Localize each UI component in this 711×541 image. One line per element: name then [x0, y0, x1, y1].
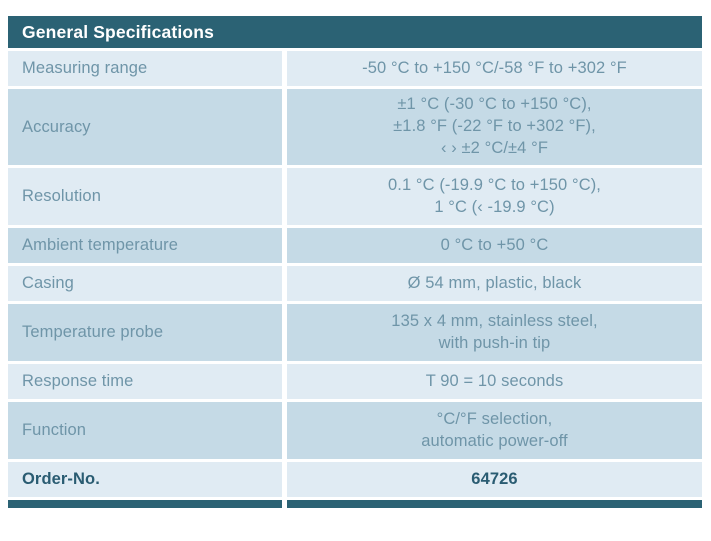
table-row: Measuring range-50 °C to +150 °C/-58 °F … — [8, 51, 702, 86]
spec-label: Resolution — [8, 168, 282, 225]
spec-value-line: ±1.8 °F (-22 °F to +302 °F), — [393, 116, 596, 138]
spec-value-text: °C/°F selection,automatic power-off — [421, 409, 568, 453]
table-row: Response timeT 90 = 10 seconds — [8, 364, 702, 399]
spec-value: ±1 °C (-30 °C to +150 °C),±1.8 °F (-22 °… — [287, 89, 702, 165]
spec-label: Measuring range — [8, 51, 282, 86]
spec-label: Function — [8, 402, 282, 459]
spec-label: Ambient temperature — [8, 228, 282, 263]
table-row: Resolution0.1 °C (-19.9 °C to +150 °C),1… — [8, 168, 702, 225]
spec-value-text: -50 °C to +150 °C/-58 °F to +302 °F — [362, 58, 627, 80]
spec-label: Accuracy — [8, 89, 282, 165]
spec-value-text: 0.1 °C (-19.9 °C to +150 °C),1 °C (‹ -19… — [388, 175, 601, 219]
spec-value-line: 0 °C to +50 °C — [441, 235, 549, 257]
spec-value-line: T 90 = 10 seconds — [426, 371, 564, 393]
spec-value-text: Ø 54 mm, plastic, black — [408, 273, 582, 295]
spec-value-line: 135 x 4 mm, stainless steel, — [391, 311, 597, 333]
spec-value: 64726 — [287, 462, 702, 497]
spec-value-text: 64726 — [471, 469, 517, 491]
spec-label: Casing — [8, 266, 282, 301]
spec-value-line: -50 °C to +150 °C/-58 °F to +302 °F — [362, 58, 627, 80]
spec-label: Temperature probe — [8, 304, 282, 361]
footer-bar-right — [287, 500, 702, 508]
table-row: Function°C/°F selection,automatic power-… — [8, 402, 702, 459]
spec-value-line: with push-in tip — [391, 333, 597, 355]
table-header-title: General Specifications — [22, 22, 214, 43]
spec-value-text: 135 x 4 mm, stainless steel,with push-in… — [391, 311, 597, 355]
spec-value: 0 °C to +50 °C — [287, 228, 702, 263]
specifications-table: General Specifications Measuring range-5… — [8, 16, 702, 508]
spec-value: T 90 = 10 seconds — [287, 364, 702, 399]
spec-value: 135 x 4 mm, stainless steel,with push-in… — [287, 304, 702, 361]
spec-value: -50 °C to +150 °C/-58 °F to +302 °F — [287, 51, 702, 86]
spec-value: Ø 54 mm, plastic, black — [287, 266, 702, 301]
table-header: General Specifications — [8, 16, 702, 48]
spec-label: Order-No. — [8, 462, 282, 497]
spec-value-line: ‹ › ±2 °C/±4 °F — [393, 138, 596, 160]
spec-value-line: 1 °C (‹ -19.9 °C) — [388, 197, 601, 219]
table-row: Order-No.64726 — [8, 462, 702, 497]
spec-value-line: ±1 °C (-30 °C to +150 °C), — [393, 94, 596, 116]
spec-value-line: Ø 54 mm, plastic, black — [408, 273, 582, 295]
spec-value-line: 0.1 °C (-19.9 °C to +150 °C), — [388, 175, 601, 197]
table-row: CasingØ 54 mm, plastic, black — [8, 266, 702, 301]
table-body: Measuring range-50 °C to +150 °C/-58 °F … — [8, 51, 702, 497]
table-row: Temperature probe135 x 4 mm, stainless s… — [8, 304, 702, 361]
table-row: Accuracy±1 °C (-30 °C to +150 °C),±1.8 °… — [8, 89, 702, 165]
spec-value-text: ±1 °C (-30 °C to +150 °C),±1.8 °F (-22 °… — [393, 94, 596, 160]
spec-value-text: T 90 = 10 seconds — [426, 371, 564, 393]
table-row: Ambient temperature0 °C to +50 °C — [8, 228, 702, 263]
footer-bar-left — [8, 500, 282, 508]
spec-value-line: °C/°F selection, — [421, 409, 568, 431]
spec-value-line: 64726 — [471, 469, 517, 491]
spec-value-text: 0 °C to +50 °C — [441, 235, 549, 257]
spec-label: Response time — [8, 364, 282, 399]
table-footer-bar — [8, 500, 702, 508]
spec-value-line: automatic power-off — [421, 431, 568, 453]
spec-value: 0.1 °C (-19.9 °C to +150 °C),1 °C (‹ -19… — [287, 168, 702, 225]
spec-value: °C/°F selection,automatic power-off — [287, 402, 702, 459]
